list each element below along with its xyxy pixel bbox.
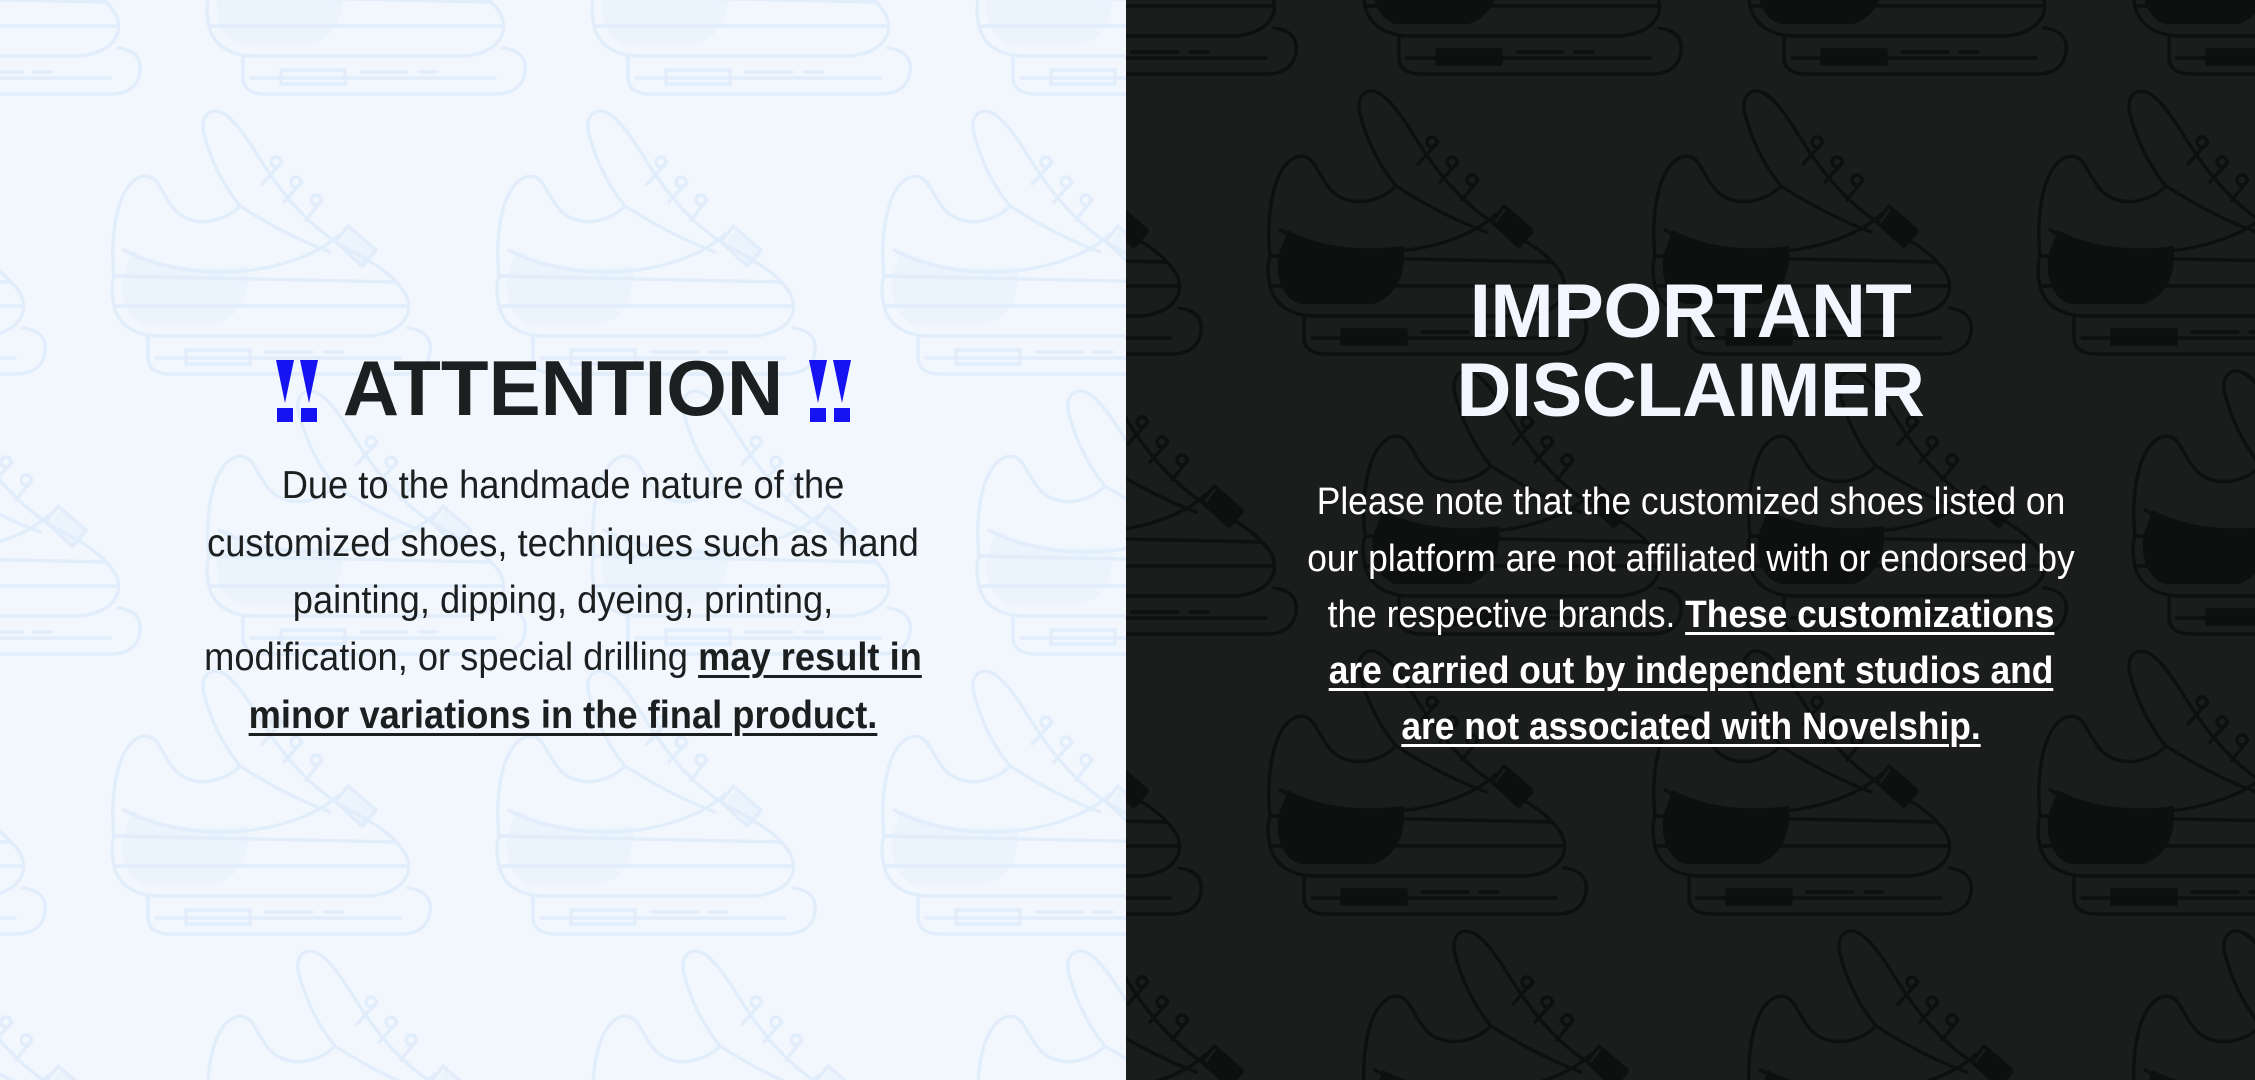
disclaimer-heading-line2: DISCLAIMER [1266,351,2115,430]
important-disclaimer-panel: IMPORTANT DISCLAIMER Please note that th… [1126,0,2255,1080]
disclaimer-heading-line1: IMPORTANT [1266,272,2115,351]
double-exclamation-icon-right [809,360,850,422]
disclaimer-content: IMPORTANT DISCLAIMER Please note that th… [1126,272,2255,755]
attention-panel: ATTENTION Due to the handmade nature of … [0,0,1126,1080]
attention-heading: ATTENTION [150,348,976,429]
double-exclamation-icon-left [276,360,317,422]
disclaimer-banner: ATTENTION Due to the handmade nature of … [0,0,2255,1080]
attention-content: ATTENTION Due to the handmade nature of … [0,348,1126,744]
attention-body: Due to the handmade nature of the custom… [186,457,939,744]
disclaimer-body: Please note that the customized shoes li… [1305,474,2077,755]
attention-heading-text: ATTENTION [343,348,784,429]
disclaimer-heading: IMPORTANT DISCLAIMER [1266,272,2115,430]
